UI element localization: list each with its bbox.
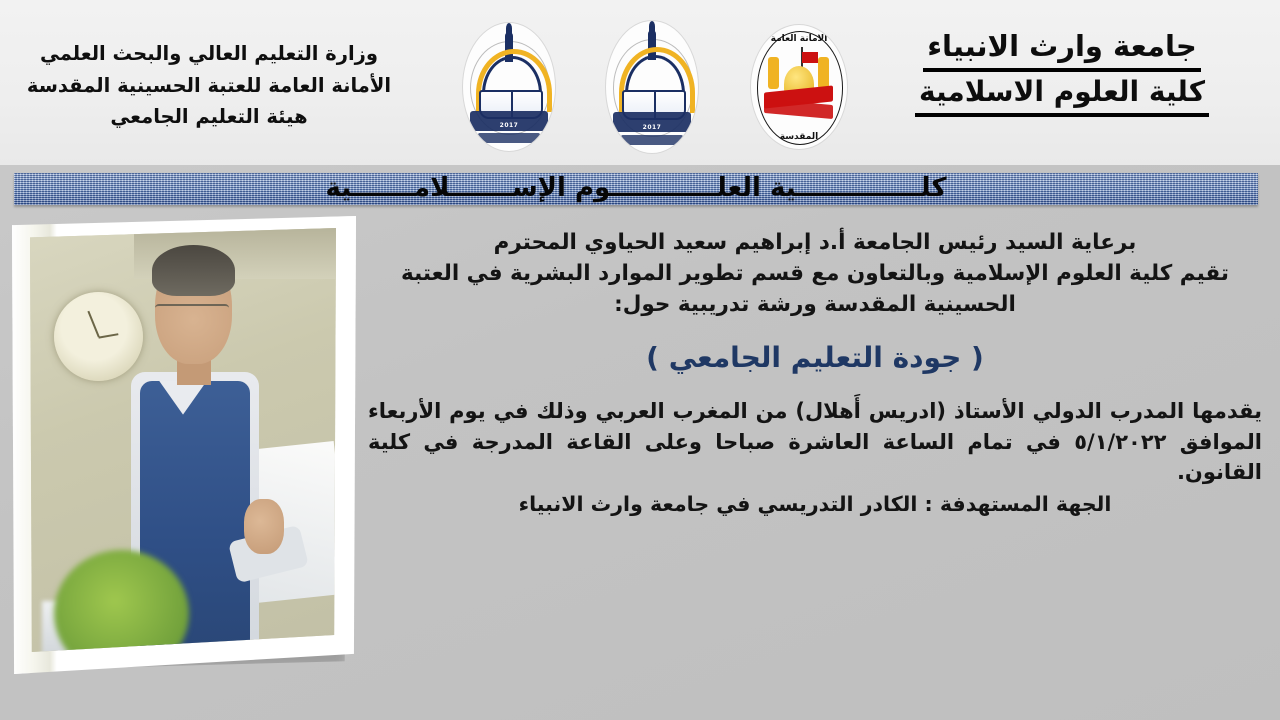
minaret-left-icon	[768, 57, 779, 89]
crest-band-lower	[621, 135, 684, 146]
university-college-logo: 2017	[462, 22, 556, 152]
college-title-text: كلــــــــــــــية العلــــــــــــوم ال…	[14, 173, 1258, 205]
university-name-line1: جامعة وارث الانبياء	[923, 26, 1201, 72]
trainer-photo	[4, 212, 360, 680]
details-line-2: الموافق ٥/١/٢٠٢٢ في تمام الساعة العاشرة …	[368, 430, 1262, 454]
poster-header: جامعة وارث الانبياء كلية العلوم الاسلامي…	[0, 0, 1280, 165]
university-logo: 2017	[605, 20, 699, 154]
ministry-name-block: وزارة التعليم العالي والبحث العلمي الأما…	[18, 38, 400, 133]
announcement-body: برعاية السيد رئيس الجامعة أ.د إبراهيم سع…	[360, 228, 1270, 516]
crest-band-lower	[478, 133, 541, 143]
red-flag-icon	[802, 52, 818, 63]
crest-graphic: 2017	[463, 23, 555, 151]
wall-clock-icon	[54, 292, 143, 381]
intro-line-3: الحسينية المقدسة ورشة تدريبية حول:	[368, 290, 1262, 321]
college-title-banner: كلــــــــــــــية العلــــــــــــوم ال…	[14, 173, 1258, 205]
workshop-title: ( جودة التعليم الجامعي )	[360, 341, 1270, 374]
holy-shrine-logo: الامانة العامة المقدسة	[750, 24, 848, 150]
intro-paragraph: برعاية السيد رئيس الجامعة أ.د إبراهيم سع…	[360, 228, 1270, 321]
shrine-bottom-text: المقدسة	[751, 132, 847, 142]
person-hair	[152, 245, 235, 296]
photo-image	[30, 228, 336, 652]
details-line-1: يقدمها المدرب الدولي الأستاذ (ادريس أَهل…	[368, 399, 1262, 423]
intro-line-2: تقيم كلية العلوم الإسلامية وبالتعاون مع …	[368, 259, 1262, 290]
intro-line-1: برعاية السيد رئيس الجامعة أ.د إبراهيم سع…	[368, 228, 1262, 259]
university-name-line2: كلية العلوم الاسلامية	[915, 72, 1209, 117]
university-name-block: جامعة وارث الانبياء كلية العلوم الاسلامي…	[862, 26, 1262, 117]
ministry-line3: هيئة التعليم الجامعي	[18, 101, 400, 133]
crest-year: 2017	[463, 122, 555, 129]
minaret-right-icon	[818, 57, 829, 89]
poster-canvas: جامعة وارث الانبياء كلية العلوم الاسلامي…	[0, 0, 1280, 720]
ministry-line1: وزارة التعليم العالي والبحث العلمي	[18, 38, 400, 70]
person-hand	[244, 499, 284, 554]
ministry-line2: الأمانة العامة للعتبة الحسينية المقدسة	[18, 70, 400, 102]
eyeglasses-icon	[155, 304, 228, 327]
shrine-top-text: الامانة العامة	[751, 34, 847, 44]
crest-graphic: 2017	[606, 21, 698, 153]
details-line-3: القانون.	[1177, 460, 1262, 484]
crest-year: 2017	[606, 124, 698, 131]
details-paragraph: يقدمها المدرب الدولي الأستاذ (ادريس أَهل…	[360, 396, 1270, 488]
logo-row: 2017 2017 الاما	[450, 18, 870, 153]
target-audience: الجهة المستهدفة : الكادر التدريسي في جام…	[360, 492, 1270, 516]
shrine-graphic: الامانة العامة المقدسة	[751, 25, 847, 149]
